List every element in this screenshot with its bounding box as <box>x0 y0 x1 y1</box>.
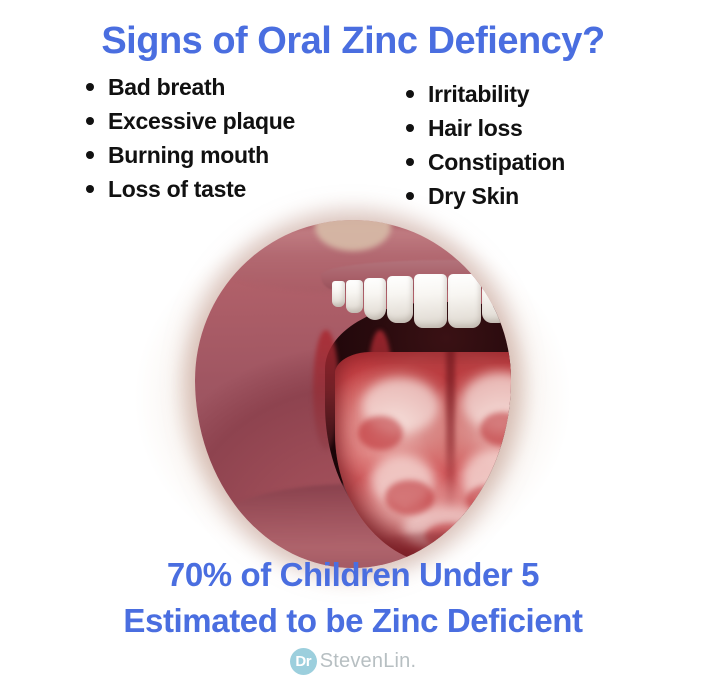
logo-wordmark: StevenLin. <box>320 650 417 673</box>
list-item-label: Loss of taste <box>108 176 246 203</box>
tongue-papillae <box>358 416 403 450</box>
list-item: Irritability <box>406 81 565 108</box>
bullet-icon <box>86 185 94 193</box>
tooth <box>364 278 386 320</box>
tooth <box>332 281 345 307</box>
tongue-papillae <box>385 480 435 514</box>
tooth <box>346 280 363 313</box>
bullet-icon <box>86 83 94 91</box>
list-item-label: Irritability <box>428 81 529 108</box>
list-item-label: Constipation <box>428 149 565 176</box>
logo-mark-icon: Dr <box>290 648 317 675</box>
tongue-papillae <box>466 485 511 515</box>
mouth-photo <box>103 198 603 598</box>
list-item-label: Hair loss <box>428 115 522 142</box>
tooth <box>448 274 481 328</box>
bullet-icon <box>86 151 94 159</box>
tooth <box>387 276 413 323</box>
symptom-lists: Bad breath Excessive plaque Burning mout… <box>0 74 706 224</box>
list-item: Dry Skin <box>406 183 565 210</box>
list-item: Loss of taste <box>86 176 295 203</box>
list-item-label: Burning mouth <box>108 142 269 169</box>
median-groove <box>446 352 455 510</box>
infographic-poster: Signs of Oral Zinc Defiency? Bad breath … <box>0 0 706 700</box>
bullet-icon <box>406 158 414 166</box>
list-item: Constipation <box>406 149 565 176</box>
tongue-papillae <box>480 412 511 446</box>
bullet-icon <box>406 192 414 200</box>
page-title: Signs of Oral Zinc Defiency? <box>0 20 706 63</box>
list-item: Burning mouth <box>86 142 295 169</box>
lips <box>195 220 511 568</box>
list-item: Hair loss <box>406 115 565 142</box>
list-item: Excessive plaque <box>86 108 295 135</box>
symptom-list-left: Bad breath Excessive plaque Burning mout… <box>86 74 295 211</box>
upper-teeth-row <box>331 274 511 336</box>
footer-line-1: 70% of Children Under 5 <box>0 552 706 598</box>
list-item-label: Excessive plaque <box>108 108 295 135</box>
list-item-label: Dry Skin <box>428 183 519 210</box>
bullet-icon <box>406 124 414 132</box>
bullet-icon <box>86 117 94 125</box>
tooth <box>414 274 447 328</box>
tooth <box>482 276 508 323</box>
footer-headline: 70% of Children Under 5 Estimated to be … <box>0 552 706 643</box>
tooth <box>509 278 512 320</box>
list-item-label: Bad breath <box>108 74 225 101</box>
list-item: Bad breath <box>86 74 295 101</box>
footer-line-2: Estimated to be Zinc Deficient <box>0 598 706 644</box>
brand-logo: Dr StevenLin. <box>0 648 706 675</box>
bullet-icon <box>406 90 414 98</box>
symptom-list-right: Irritability Hair loss Constipation Dry … <box>406 81 565 218</box>
